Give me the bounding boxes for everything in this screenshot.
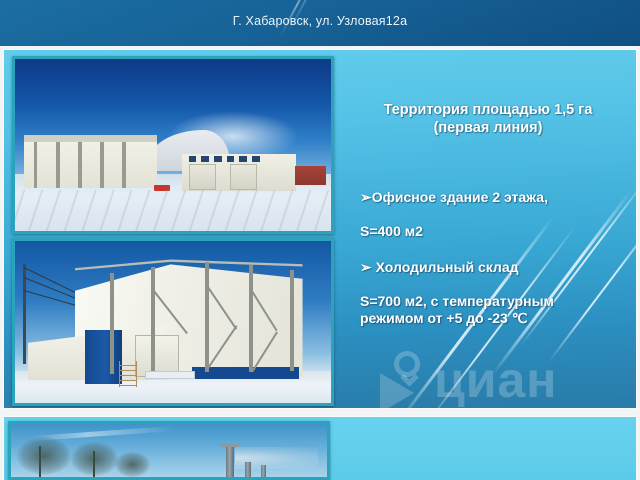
- photo2-steel-column: [249, 265, 253, 372]
- photo3-chimney: [226, 445, 234, 477]
- slide-screenshot: Г. Хабаровск, ул. Узловая12а: [0, 0, 640, 480]
- photo1-window: [252, 156, 260, 162]
- photo1-window: [227, 156, 235, 162]
- bullet-warehouse-line2: S=700 м2, с температурным режимом от +5 …: [360, 293, 554, 326]
- photo1-red-container: [295, 166, 327, 185]
- photo1-steel-column: [100, 142, 103, 188]
- photo2-ladder: [119, 361, 137, 387]
- header-bar: Г. Хабаровск, ул. Узловая12а: [0, 0, 640, 46]
- bullet-office-line1: Офисное здание 2 этажа,: [372, 189, 548, 205]
- photo3-post: [261, 465, 266, 477]
- photo2-blue-container: [85, 330, 123, 383]
- bullet-marker-icon: ➢: [360, 189, 372, 205]
- photo3-chimney-cap: [221, 443, 239, 447]
- bullet-office-building: ➢Офисное здание 2 этажа, S=400 м2: [360, 172, 630, 240]
- photo1-window: [214, 156, 222, 162]
- photo1-gate-door: [230, 164, 257, 190]
- area-title: Территория площадью 1,5 га (первая линия…: [346, 102, 630, 137]
- photo1-window: [239, 156, 247, 162]
- photo1-steel-column: [34, 142, 37, 188]
- photo3-tree-canopy: [17, 437, 71, 475]
- photo1-steel-column: [78, 142, 81, 188]
- description-text-column: Территория площадью 1,5 га (первая линия…: [340, 50, 636, 408]
- photo1-snow-tracks: [15, 190, 331, 231]
- photo-building-exterior-2[interactable]: [12, 238, 334, 406]
- photo1-hangar-roofline: [24, 135, 157, 142]
- photo1-window: [201, 156, 209, 162]
- photo1-steel-column: [122, 142, 125, 188]
- photo-building-exterior-1[interactable]: [12, 56, 334, 234]
- photo3-tree-trunk: [39, 446, 41, 477]
- slide-bottom-panel: [4, 417, 636, 480]
- photo2-steel-column: [290, 270, 294, 370]
- photo-building-exterior-3[interactable]: [8, 421, 330, 480]
- photo2-steel-column: [151, 267, 155, 371]
- bullet-marker-icon: ➢: [360, 259, 372, 275]
- photo1-hangar-wall: [24, 136, 157, 188]
- page-title: Г. Хабаровск, ул. Узловая12а: [0, 14, 640, 28]
- photo1-window: [189, 156, 197, 162]
- photo3-tree-trunk: [93, 451, 95, 478]
- photo2-loading-platform: [145, 371, 196, 379]
- photo3-post: [245, 462, 251, 477]
- photo1-steel-column: [56, 142, 59, 188]
- slide-content-panel: Территория площадью 1,5 га (первая линия…: [4, 50, 636, 408]
- bullet-office-line2: S=400 м2: [360, 223, 423, 239]
- photo3-tree-canopy: [115, 452, 150, 477]
- bullet-cold-warehouse: ➢ Холодильный склад S=700 м2, с температ…: [360, 242, 634, 327]
- photo2-steel-column: [110, 273, 114, 373]
- bullet-warehouse-line1: Холодильный склад: [372, 259, 519, 275]
- photo1-gate-door: [189, 164, 216, 190]
- photo2-steel-column: [205, 262, 209, 372]
